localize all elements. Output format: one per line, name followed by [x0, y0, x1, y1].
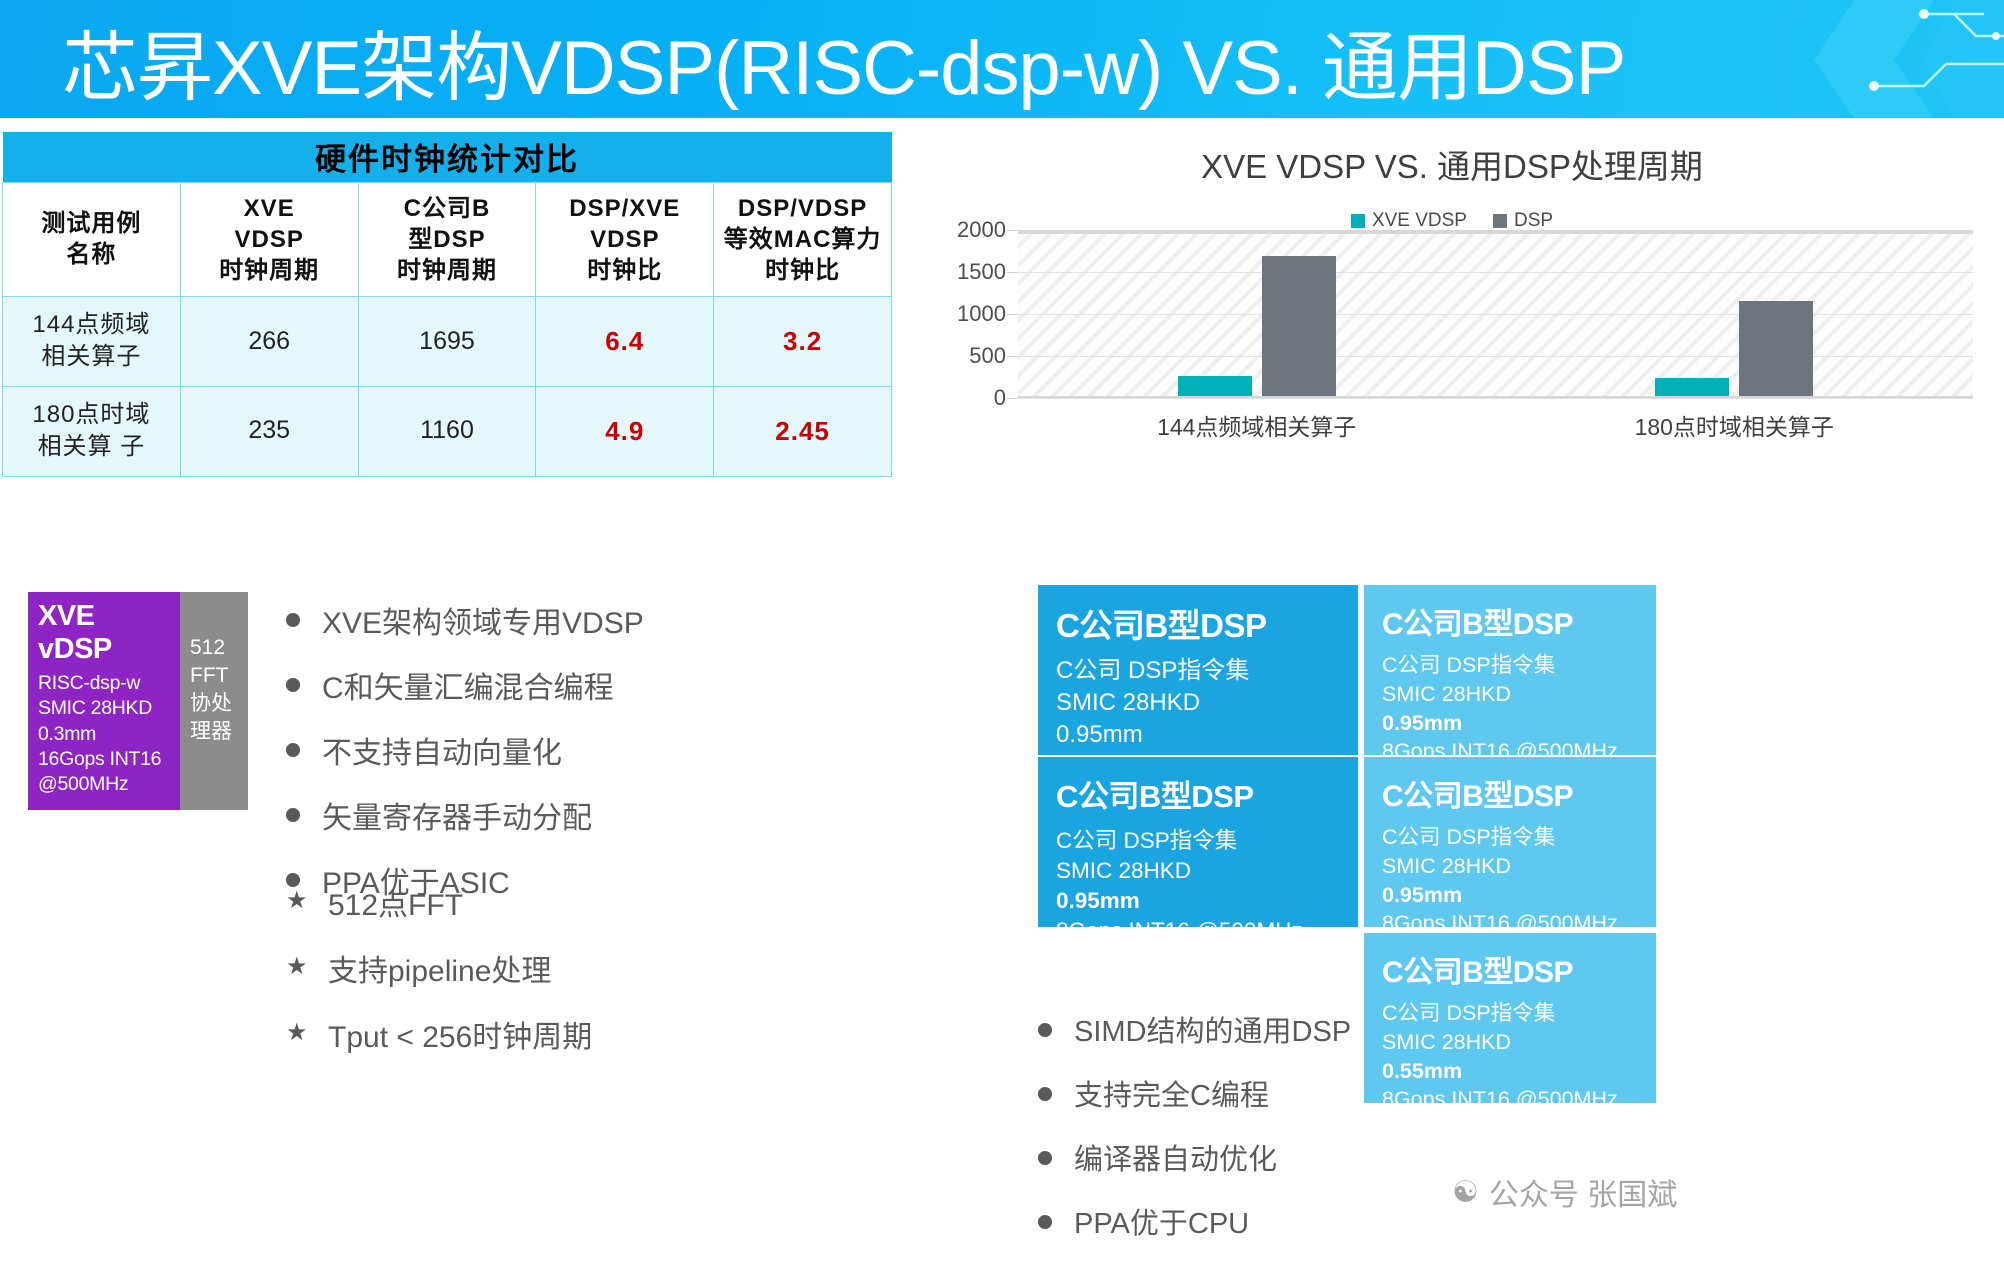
y-tick-label: 1500 — [957, 259, 1006, 285]
legend-label-dsp: DSP — [1514, 210, 1553, 232]
y-tick-label: 0 — [994, 385, 1006, 411]
chart-title: XVE VDSP VS. 通用DSP处理周期 — [900, 140, 2004, 188]
chip-title: XVE vDSP — [38, 600, 170, 666]
y-tick-label: 500 — [969, 343, 1006, 369]
page-title: 芯昇XVE架构VDSP(RISC-dsp-w) VS. 通用DSP — [62, 6, 1625, 116]
circuit-decoration-icon — [1624, 0, 2004, 118]
legend-label-xve-vdsp: XVE VDSP — [1372, 210, 1467, 232]
cell-testcase-name: 144点频域 相关算子 — [3, 297, 181, 387]
legend-swatch-dsp — [1493, 214, 1507, 228]
bullet-dot-icon — [286, 678, 300, 692]
dsp-card: C公司B型DSP C公司 DSP指令集 SMIC 28HKD 0.95mm 8G… — [1364, 757, 1656, 927]
dsp-card: C公司B型DSP C公司 DSP指令集 SMIC 28HKD 0.95mm 8G… — [1038, 757, 1358, 927]
table-caption-row: 硬件时钟统计对比 — [3, 132, 892, 182]
dsp-card-specs: C公司 DSP指令集 SMIC 28HKD 0.95mm 8Gops INT16… — [1382, 823, 1638, 938]
bullet-dot-icon — [1038, 1215, 1052, 1229]
legend-swatch-xve-vdsp — [1351, 214, 1365, 228]
gridline — [1018, 356, 1973, 357]
bullet-dot-icon — [286, 613, 300, 627]
x-tick-label: 180点时域相关算子 — [1635, 408, 1834, 442]
col-header-dsp-xve-ratio: DSP/XVE VDSP 时钟比 — [536, 182, 714, 297]
list-item: ★ Tput < 256时钟周期 — [286, 1012, 592, 1056]
table-header-row: 测试用例 名称 XVE VDSP 时钟周期 C公司B 型DSP 时钟周期 DSP… — [3, 182, 892, 297]
cell-c-dsp-cycles: 1160 — [358, 386, 536, 476]
chart-plot-area: 0500100015002000 144点频域相关算子180点时域相关算子 — [1018, 230, 1973, 398]
y-tick-mark — [1007, 314, 1018, 315]
table-caption: 硬件时钟统计对比 — [3, 132, 892, 182]
list-item: XVE架构领域专用VDSP — [286, 598, 644, 642]
dsp-card-specs: C公司 DSP指令集 SMIC 28HKD 0.95mm 8Gops INT16… — [1056, 826, 1340, 947]
list-item: ★ 支持pipeline处理 — [286, 946, 592, 990]
legend-item-dsp: DSP — [1493, 210, 1553, 232]
xve-vdsp-feature-list: XVE架构领域专用VDSP C和矢量汇编混合编程 不支持自动向量化 矢量寄存器手… — [286, 598, 644, 923]
bullet-dot-icon — [286, 808, 300, 822]
list-item: ★ 512点FFT — [286, 880, 592, 924]
chip-specs: RISC-dsp-w SMIC 28HKD 0.3mm 16Gops INT16… — [38, 671, 170, 798]
star-bullet-icon: ★ — [286, 889, 306, 913]
fft-feature-list: ★ 512点FFT ★ 支持pipeline处理 ★ Tput < 256时钟周… — [286, 880, 592, 1078]
cell-dsp-xve-ratio: 4.9 — [536, 386, 714, 476]
chart-legend: XVE VDSP DSP — [900, 210, 2004, 232]
chart-bar — [1178, 376, 1252, 398]
generic-dsp-feature-list: SIMD结构的通用DSP 支持完全C编程 编译器自动优化 PPA优于CPU — [1038, 1008, 1351, 1264]
col-header-dsp-vdsp-mac-ratio: DSP/VDSP 等效MAC算力 时钟比 — [714, 182, 892, 297]
legend-item-xve-vdsp: XVE VDSP — [1351, 210, 1467, 232]
x-tick-label: 144点频域相关算子 — [1157, 408, 1356, 442]
y-tick-mark — [1007, 356, 1018, 357]
cell-dsp-xve-ratio: 6.4 — [536, 297, 714, 387]
bullet-dot-icon — [286, 743, 300, 757]
hardware-clock-table-wrapper: 硬件时钟统计对比 测试用例 名称 XVE VDSP 时钟周期 C公司B 型DSP… — [2, 132, 894, 477]
chart-bar — [1739, 301, 1813, 398]
star-bullet-icon: ★ — [286, 1021, 306, 1045]
list-item: C和矢量汇编混合编程 — [286, 663, 644, 707]
watermark: ☯ 公众号 张国斌 — [1452, 1170, 1677, 1214]
list-item: 不支持自动向量化 — [286, 728, 644, 772]
table-row: 180点时域 相关算 子 235 1160 4.9 2.45 — [3, 386, 892, 476]
list-item: SIMD结构的通用DSP — [1038, 1008, 1351, 1050]
cell-xve-vdsp-cycles: 235 — [180, 386, 358, 476]
table-row: 144点频域 相关算子 266 1695 6.4 3.2 — [3, 297, 892, 387]
cell-c-dsp-cycles: 1695 — [358, 297, 536, 387]
star-bullet-icon: ★ — [286, 955, 306, 979]
y-tick-mark — [1007, 398, 1018, 399]
y-tick-label: 2000 — [957, 217, 1006, 243]
y-tick-mark — [1007, 272, 1018, 273]
page-header: 芯昇XVE架构VDSP(RISC-dsp-w) VS. 通用DSP — [0, 0, 2004, 118]
cell-testcase-name: 180点时域 相关算 子 — [3, 386, 181, 476]
gridline — [1018, 398, 1973, 399]
dsp-card-specs: C公司 DSP指令集 SMIC 28HKD 0.95mm 8Gops INT16… — [1382, 651, 1638, 766]
list-item: 编译器自动优化 — [1038, 1136, 1351, 1178]
list-item: 矢量寄存器手动分配 — [286, 793, 644, 837]
fft-coprocessor-block: 512 FFT 协处 理器 — [180, 592, 248, 810]
bullet-dot-icon — [1038, 1087, 1052, 1101]
bullet-dot-icon — [1038, 1151, 1052, 1165]
y-tick-mark — [1007, 230, 1018, 231]
list-item: PPA优于CPU — [1038, 1200, 1351, 1242]
chart-x-axis — [1018, 396, 1973, 398]
y-tick-label: 1000 — [957, 301, 1006, 327]
cell-dsp-vdsp-mac-ratio: 2.45 — [714, 386, 892, 476]
dsp-card-specs: C公司 DSP指令集 SMIC 28HKD 0.55mm 8Gops INT16… — [1382, 999, 1638, 1114]
chart-bar — [1262, 256, 1336, 398]
dsp-card: C公司B型DSP C公司 DSP指令集 SMIC 28HKD 0.95mm 8G… — [1038, 585, 1358, 755]
processing-cycles-bar-chart: XVE VDSP VS. 通用DSP处理周期 XVE VDSP DSP 0500… — [900, 122, 2004, 442]
wechat-icon: ☯ — [1452, 1175, 1479, 1210]
xve-vdsp-chip-main: XVE vDSP RISC-dsp-w SMIC 28HKD 0.3mm 16G… — [28, 592, 180, 810]
list-item: 支持完全C编程 — [1038, 1072, 1351, 1114]
cell-xve-vdsp-cycles: 266 — [180, 297, 358, 387]
col-header-xve-vdsp-cycles: XVE VDSP 时钟周期 — [180, 182, 358, 297]
watermark-text: 公众号 张国斌 — [1489, 1170, 1677, 1214]
bullet-dot-icon — [1038, 1023, 1052, 1037]
gridline — [1018, 314, 1973, 315]
dsp-card: C公司B型DSP C公司 DSP指令集 SMIC 28HKD 0.55mm 8G… — [1364, 933, 1656, 1103]
hardware-clock-comparison-table: 硬件时钟统计对比 测试用例 名称 XVE VDSP 时钟周期 C公司B 型DSP… — [2, 132, 892, 477]
cell-dsp-vdsp-mac-ratio: 3.2 — [714, 297, 892, 387]
col-header-testcase: 测试用例 名称 — [3, 182, 181, 297]
col-header-c-dsp-cycles: C公司B 型DSP 时钟周期 — [358, 182, 536, 297]
dsp-card: C公司B型DSP C公司 DSP指令集 SMIC 28HKD 0.95mm 8G… — [1364, 585, 1656, 755]
xve-vdsp-chip-block: XVE vDSP RISC-dsp-w SMIC 28HKD 0.3mm 16G… — [28, 592, 248, 810]
gridline — [1018, 272, 1973, 273]
